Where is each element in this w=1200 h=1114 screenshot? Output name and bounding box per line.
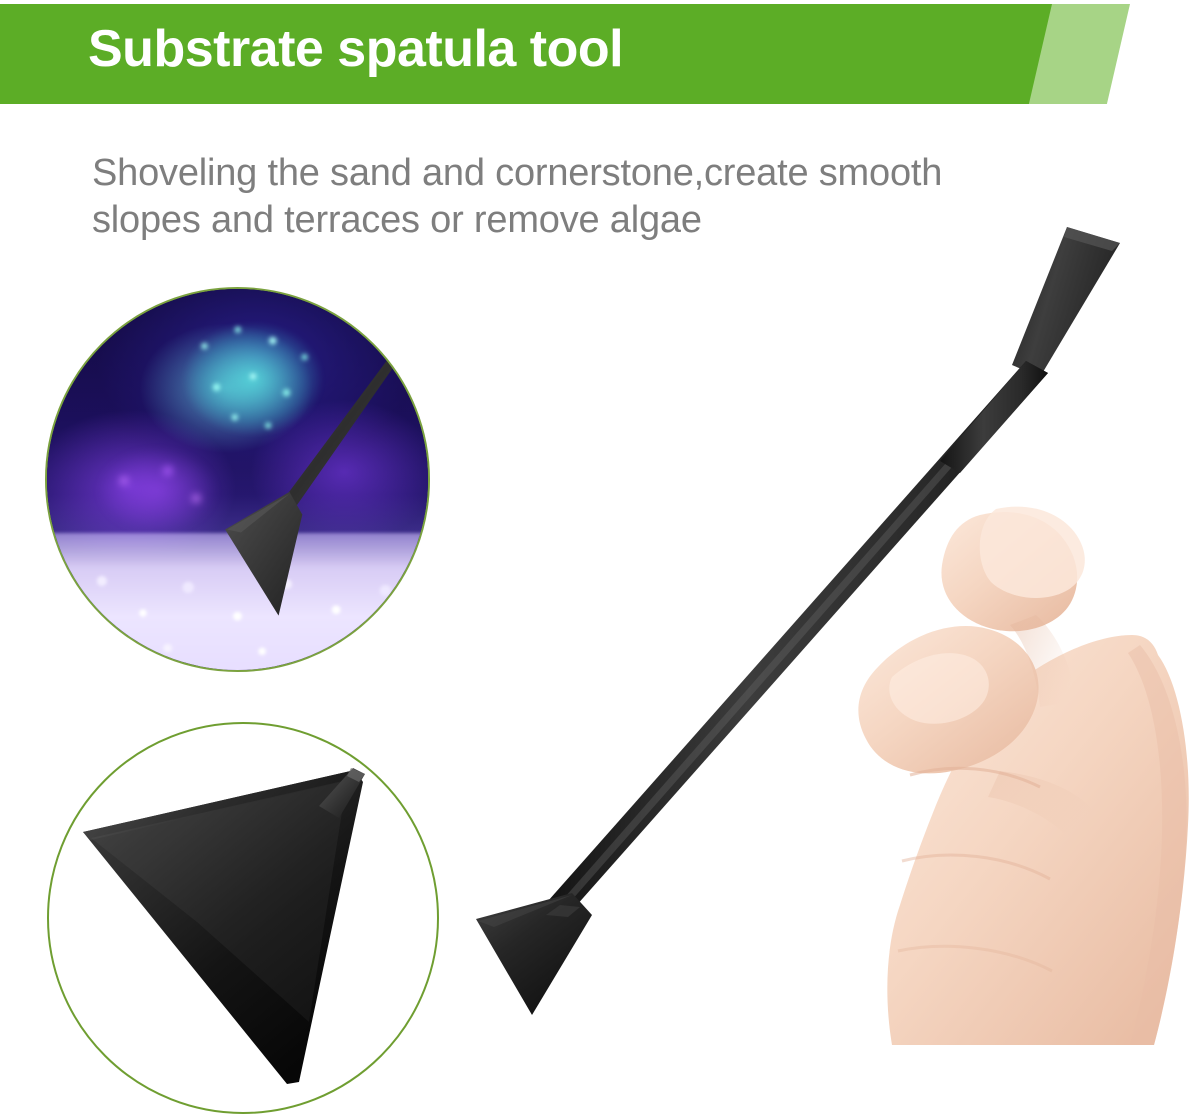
product-illustration — [440, 215, 1200, 1045]
hand-holding-product-photo — [440, 215, 1200, 1045]
hand — [858, 507, 1188, 1045]
scraper-tip — [1012, 227, 1120, 377]
spatula-blade-closeup — [47, 722, 439, 1114]
product-infographic: Substrate spatula tool Shoveling the san… — [0, 0, 1200, 1114]
page-title: Substrate spatula tool — [88, 17, 988, 81]
blade-closeup-figure — [47, 722, 439, 1114]
subtitle-line-1: Shoveling the sand and cornerstone,creat… — [92, 150, 1152, 197]
spatula-in-gravel — [47, 289, 428, 670]
aquarium-usage-photo — [45, 287, 430, 672]
